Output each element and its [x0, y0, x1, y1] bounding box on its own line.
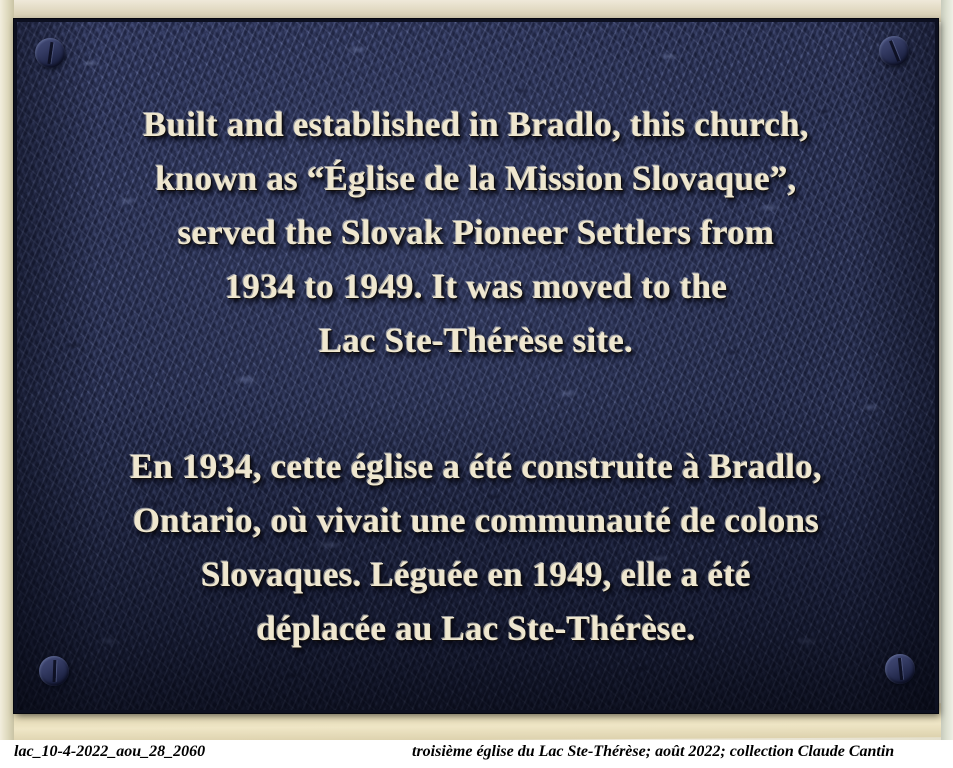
commemorative-plaque: Built and established in Bradlo, this ch… — [14, 19, 938, 713]
inscription-line: déplacée au Lac Ste-Thérèse. — [17, 602, 935, 656]
inscription-line: Ontario, où vivait une communauté de col… — [17, 494, 935, 548]
french-inscription: En 1934, cette église a été construite à… — [17, 440, 935, 656]
wood-trim-left — [0, 0, 14, 740]
inscription-line: Slovaques. Léguée en 1949, elle a été — [17, 548, 935, 602]
caption-bar: lac_10-4-2022_aou_28_2060 troisième égli… — [0, 740, 953, 768]
inscription-line: served the Slovak Pioneer Settlers from — [17, 206, 935, 260]
caption-description: troisième église du Lac Ste-Thérèse; aoû… — [412, 743, 894, 761]
inscription-line: known as “Église de la Mission Slovaque”… — [17, 152, 935, 206]
inscription-line: En 1934, cette église a été construite à… — [17, 440, 935, 494]
inscription-line: Built and established in Bradlo, this ch… — [17, 98, 935, 152]
wood-trim-right — [941, 0, 953, 740]
photograph: Built and established in Bradlo, this ch… — [0, 0, 953, 768]
inscription-line: 1934 to 1949. It was moved to the — [17, 260, 935, 314]
caption-filename: lac_10-4-2022_aou_28_2060 — [14, 743, 205, 761]
inscription-line: Lac Ste-Thérèse site. — [17, 314, 935, 368]
plaque-inscription: Built and established in Bradlo, this ch… — [17, 22, 935, 710]
english-inscription: Built and established in Bradlo, this ch… — [17, 98, 935, 368]
